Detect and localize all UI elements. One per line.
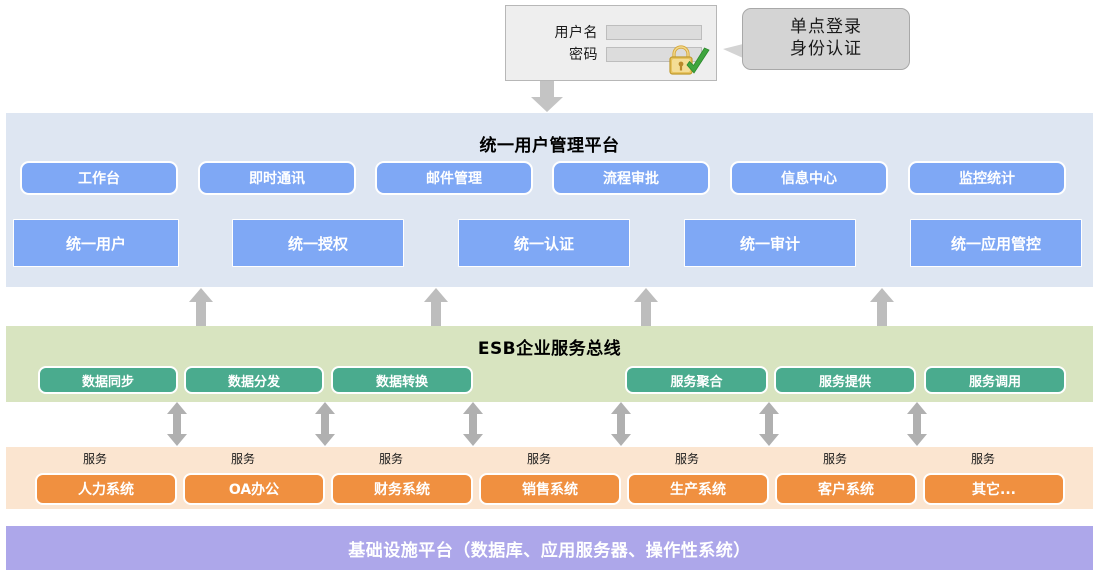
callout-line-1: 单点登录 <box>790 17 862 39</box>
arrow-up-esb-to-platform-3-icon <box>633 288 659 328</box>
arrow-bidi-esb-system-3-icon <box>462 402 484 446</box>
service-tag-6: 服务 <box>805 450 865 467</box>
service-tag-4: 服务 <box>509 450 569 467</box>
core-chip-app-control[interactable]: 统一应用管控 <box>910 219 1082 267</box>
system-chip-customer[interactable]: 客户系统 <box>775 473 917 505</box>
core-chip-unified-auth[interactable]: 统一授权 <box>232 219 404 267</box>
app-chip-mail[interactable]: 邮件管理 <box>375 161 533 195</box>
callout-tail <box>723 44 743 58</box>
app-chip-workflow[interactable]: 流程审批 <box>552 161 710 195</box>
system-chip-finance[interactable]: 财务系统 <box>331 473 473 505</box>
esb-chip-data-dispatch[interactable]: 数据分发 <box>184 366 324 394</box>
service-tag-5: 服务 <box>657 450 717 467</box>
system-chip-other[interactable]: 其它... <box>923 473 1065 505</box>
infrastructure-band: 基础设施平台（数据库、应用服务器、操作性系统） <box>6 526 1093 570</box>
lock-check-icon <box>666 44 712 76</box>
core-chip-unified-user[interactable]: 统一用户 <box>13 219 179 267</box>
arrow-bidi-esb-system-4-icon <box>610 402 632 446</box>
password-label: 密码 <box>569 44 598 64</box>
system-chip-oa[interactable]: OA办公 <box>183 473 325 505</box>
service-tag-2: 服务 <box>213 450 273 467</box>
esb-chip-data-transform[interactable]: 数据转换 <box>331 366 473 394</box>
esb-chip-svc-invoke[interactable]: 服务调用 <box>924 366 1066 394</box>
esb-title: ESB企业服务总线 <box>6 334 1093 359</box>
app-chip-im[interactable]: 即时通讯 <box>198 161 356 195</box>
core-chip-unified-authn[interactable]: 统一认证 <box>458 219 630 267</box>
app-chip-info-center[interactable]: 信息中心 <box>730 161 888 195</box>
arrow-down-to-platform-icon <box>529 81 565 113</box>
sso-callout: 单点登录 身份认证 <box>742 8 910 70</box>
username-input[interactable] <box>606 25 702 40</box>
arrow-bidi-esb-system-1-icon <box>166 402 188 446</box>
platform-title: 统一用户管理平台 <box>6 131 1093 156</box>
infrastructure-title: 基础设施平台（数据库、应用服务器、操作性系统） <box>348 536 751 561</box>
esb-chip-data-sync[interactable]: 数据同步 <box>38 366 178 394</box>
system-chip-hr[interactable]: 人力系统 <box>35 473 177 505</box>
callout-line-2: 身份认证 <box>790 39 862 61</box>
service-tag-3: 服务 <box>361 450 421 467</box>
system-chip-sales[interactable]: 销售系统 <box>479 473 621 505</box>
arrow-up-esb-to-platform-2-icon <box>423 288 449 328</box>
username-row: 用户名 <box>524 22 702 42</box>
esb-chip-svc-provide[interactable]: 服务提供 <box>774 366 916 394</box>
service-tag-1: 服务 <box>65 450 125 467</box>
arrow-bidi-esb-system-2-icon <box>314 402 336 446</box>
esb-chip-svc-aggregate[interactable]: 服务聚合 <box>625 366 768 394</box>
system-chip-production[interactable]: 生产系统 <box>627 473 769 505</box>
app-chip-monitoring[interactable]: 监控统计 <box>908 161 1066 195</box>
arrow-up-esb-to-platform-4-icon <box>869 288 895 328</box>
app-chip-workbench[interactable]: 工作台 <box>20 161 178 195</box>
architecture-diagram: 用户名 密码 单点登录 身份认证 <box>0 0 1099 576</box>
arrow-bidi-esb-system-5-icon <box>758 402 780 446</box>
core-chip-unified-audit[interactable]: 统一审计 <box>684 219 856 267</box>
service-tag-7: 服务 <box>953 450 1013 467</box>
login-panel: 用户名 密码 <box>505 5 717 81</box>
arrow-up-esb-to-platform-1-icon <box>188 288 214 328</box>
username-label: 用户名 <box>555 22 599 42</box>
arrow-bidi-esb-system-6-icon <box>906 402 928 446</box>
